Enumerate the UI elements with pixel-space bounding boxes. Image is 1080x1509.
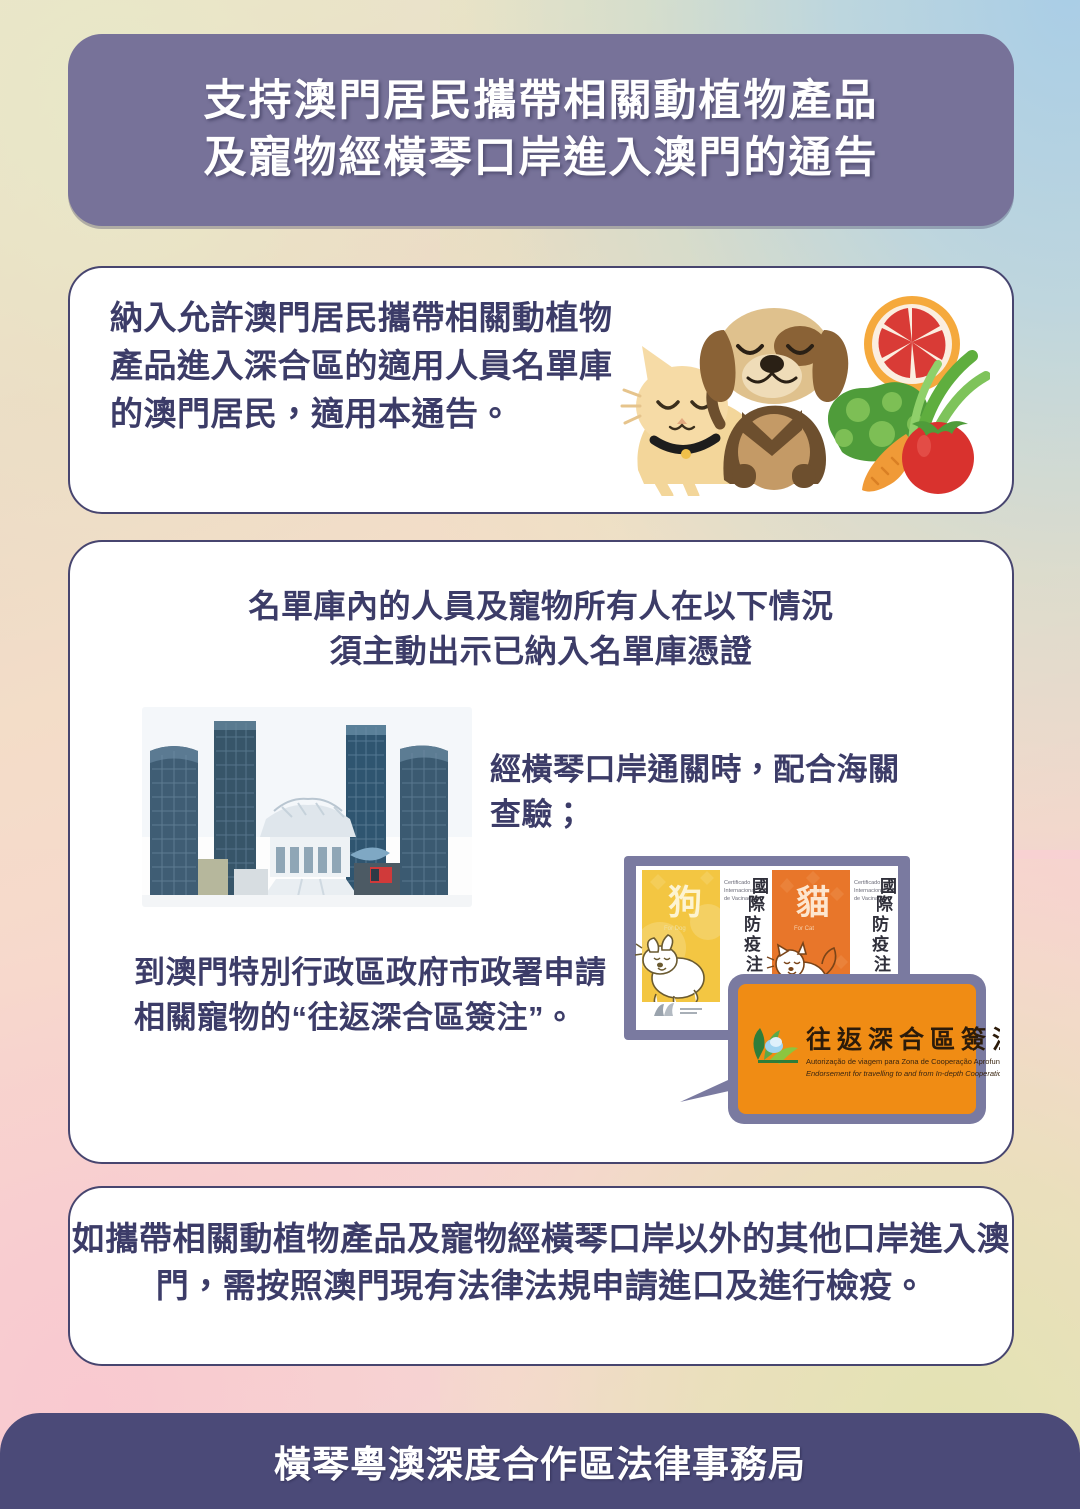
svg-text:狗: 狗 (668, 884, 702, 922)
svg-text:Endorsement for travelling to: Endorsement for travelling to and from I… (806, 1069, 1000, 1078)
card-other-ports: 如攜帶相關動植物產品及寵物經橫琴口岸以外的其他口岸進入澳門，需按照澳門現有法律法… (68, 1186, 1014, 1366)
svg-text:際: 際 (748, 894, 765, 914)
visa-application-text: 到澳門特別行政區政府市政署申請相關寵物的“往返深合區簽注”。 (134, 950, 634, 1041)
card-show-credential: 名單庫內的人員及寵物所有人在以下情況 須主動出示已納入名單庫憑證 (68, 540, 1014, 1164)
svg-text:For Cat: For Cat (794, 926, 814, 932)
svg-text:For Dog: For Dog (664, 926, 686, 932)
svg-text:防: 防 (872, 914, 889, 934)
svg-text:際: 際 (876, 894, 893, 914)
svg-text:Internacional: Internacional (724, 888, 756, 894)
other-ports-text: 如攜帶相關動植物產品及寵物經橫琴口岸以外的其他口岸進入澳門，需按照澳門現有法律法… (70, 1216, 1012, 1310)
svg-text:疫: 疫 (872, 934, 889, 954)
svg-text:注: 注 (874, 954, 891, 974)
svg-text:Certificado: Certificado (854, 880, 880, 886)
infographic-page: 支持澳門居民攜帶相關動植物產品 及寵物經橫琴口岸進入澳門的通告 納入允許澳門居民… (0, 0, 1080, 1509)
footer-organisation-name: 橫琴粵澳深度合作區法律事務局 (274, 1434, 806, 1488)
cat-dog-produce-illustration (620, 284, 990, 496)
svg-text:國: 國 (880, 877, 897, 896)
scope-text: 納入允許澳門居民攜帶相關動植物產品進入深合區的適用人員名單庫的澳門居民，適用本通… (110, 294, 630, 439)
show-heading-line-1: 名單庫內的人員及寵物所有人在以下情況 (70, 584, 1012, 629)
footer-bar: 橫琴粵澳深度合作區法律事務局 (0, 1413, 1080, 1509)
title-line-1: 支持澳門居民攜帶相關動植物產品 (204, 73, 879, 130)
hengqin-port-building-photo (142, 707, 472, 907)
svg-text:貓: 貓 (796, 884, 830, 922)
svg-text:Certificado: Certificado (724, 880, 750, 886)
svg-text:疫: 疫 (744, 934, 761, 954)
card-scope: 納入允許澳門居民攜帶相關動植物產品進入深合區的適用人員名單庫的澳門居民，適用本通… (68, 266, 1014, 514)
svg-text:防: 防 (744, 914, 761, 934)
svg-text:國: 國 (752, 877, 769, 896)
title-line-2: 及寵物經橫琴口岸進入澳門的通告 (204, 130, 879, 187)
svg-text:往返深合區簽注: 往返深合區簽注 (806, 1025, 1000, 1054)
svg-text:注: 注 (746, 954, 763, 974)
show-heading-line-2: 須主動出示已納入名單庫憑證 (70, 629, 1012, 674)
customs-inspection-text: 經橫琴口岸通關時，配合海關查驗； (490, 747, 930, 838)
title-banner: 支持澳門居民攜帶相關動植物產品 及寵物經橫琴口岸進入澳門的通告 (68, 34, 1014, 226)
show-credential-heading: 名單庫內的人員及寵物所有人在以下情況 須主動出示已納入名單庫憑證 (70, 584, 1012, 675)
certificate-speech-bubble: 狗 For Dog (620, 852, 1000, 1142)
svg-text:Autorização de viagem para Zon: Autorização de viagem para Zona de Coope… (806, 1057, 1000, 1066)
